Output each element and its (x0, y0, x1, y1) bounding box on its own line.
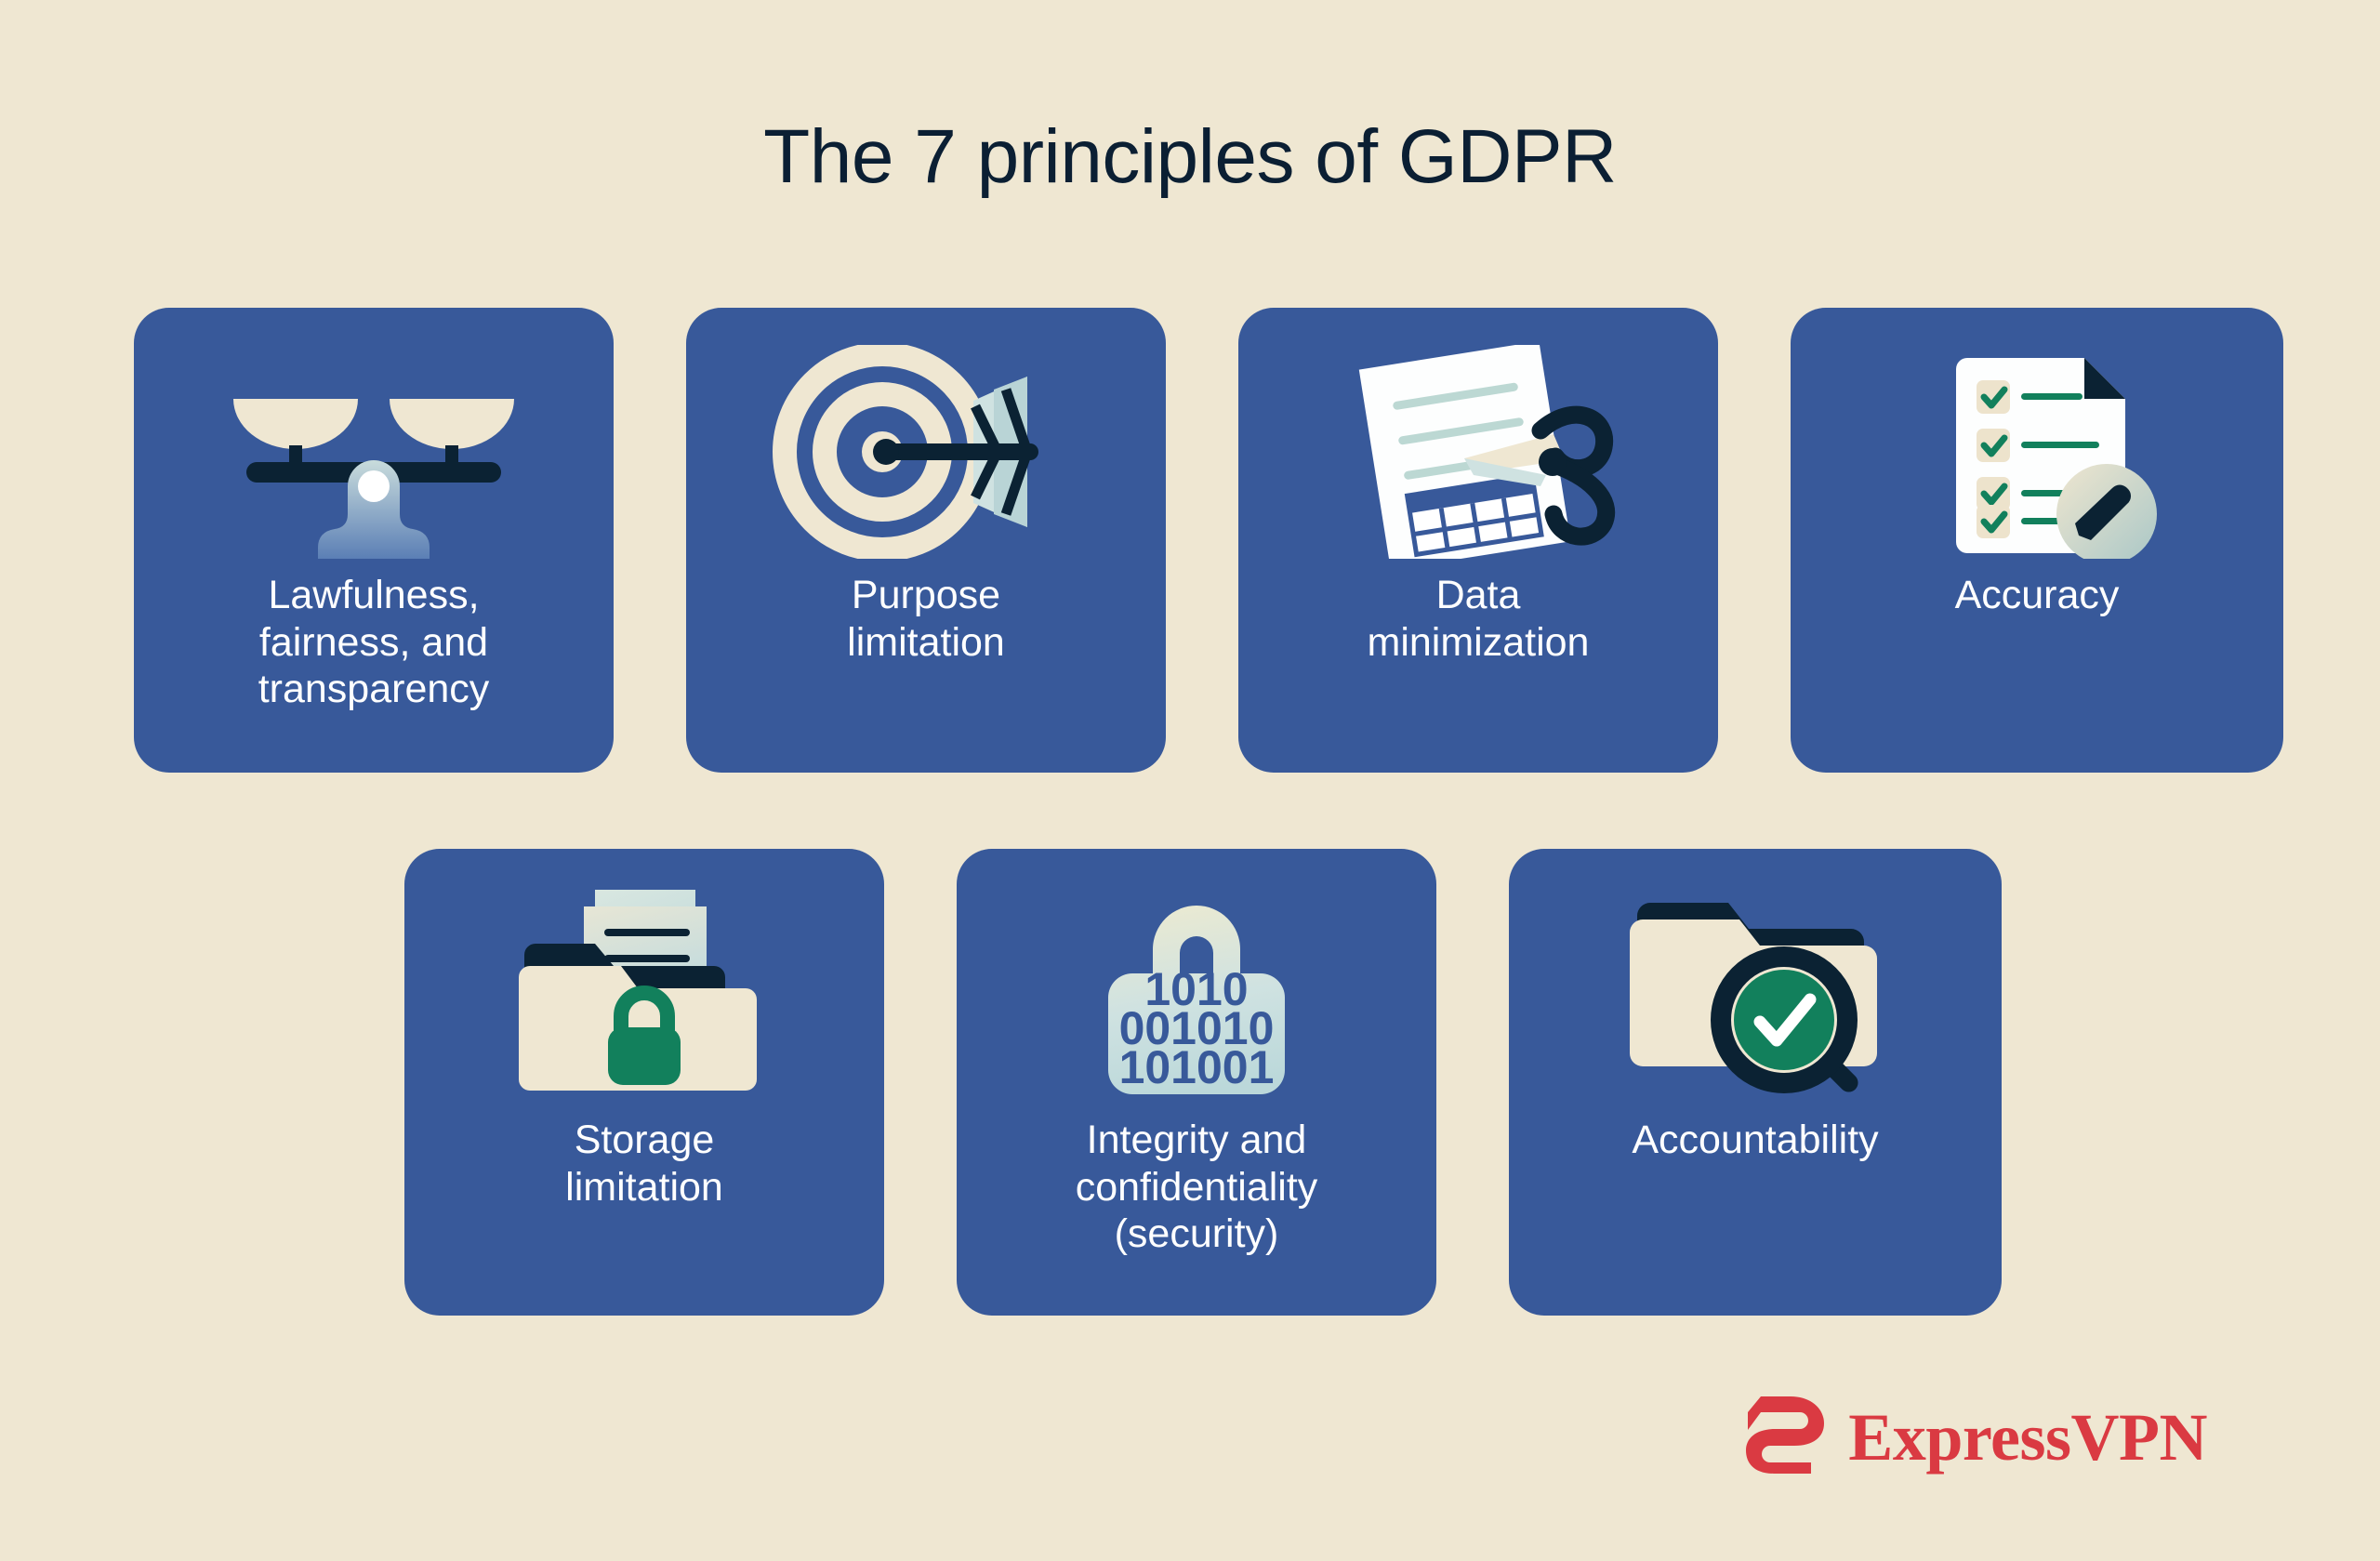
principle-label: Integrity and confidentiality (security) (957, 1117, 1436, 1258)
principle-card-accuracy[interactable]: Accuracy (1791, 308, 2283, 773)
expressvpn-logo[interactable]: ExpressVPN (1742, 1393, 2207, 1481)
principles-row-1: Lawfulness, fairness, and transparency (134, 308, 2283, 773)
principle-card-storage-limitation[interactable]: Storage limitation (404, 849, 884, 1316)
principle-card-data-minimization[interactable]: Data minimization (1238, 308, 1718, 773)
principle-card-integrity-confidentiality[interactable]: 1010 001010 101001 Integrity and confide… (957, 849, 1436, 1316)
principle-label: Purpose limitation (686, 572, 1166, 666)
folder-lock-icon (491, 884, 798, 1103)
expressvpn-wordmark: ExpressVPN (1848, 1404, 2207, 1471)
binary-padlock-icon: 1010 001010 101001 (1043, 884, 1350, 1103)
principle-label: Accuracy (1791, 572, 2283, 619)
principle-card-accountability[interactable]: Accountability (1509, 849, 2002, 1316)
document-scissors-icon (1325, 345, 1632, 563)
checklist-pencil-icon (1884, 345, 2190, 563)
target-arrow-icon (773, 345, 1079, 563)
principle-label: Lawfulness, fairness, and transparency (134, 572, 614, 713)
balance-scales-icon (220, 345, 527, 563)
principles-row-2: Storage limitation 10 (404, 849, 2002, 1316)
principle-label: Storage limitation (404, 1117, 884, 1210)
principle-card-purpose-limitation[interactable]: Purpose limitation (686, 308, 1166, 773)
folder-magnifier-check-icon (1602, 884, 1909, 1103)
expressvpn-mark-icon (1742, 1393, 1828, 1481)
principle-label: Accountability (1509, 1117, 2002, 1164)
page-title: The 7 principles of GDPR (0, 119, 2380, 195)
binary-row-3: 101001 (1119, 1041, 1275, 1093)
principle-card-lawfulness[interactable]: Lawfulness, fairness, and transparency (134, 308, 614, 773)
principle-label: Data minimization (1238, 572, 1718, 666)
